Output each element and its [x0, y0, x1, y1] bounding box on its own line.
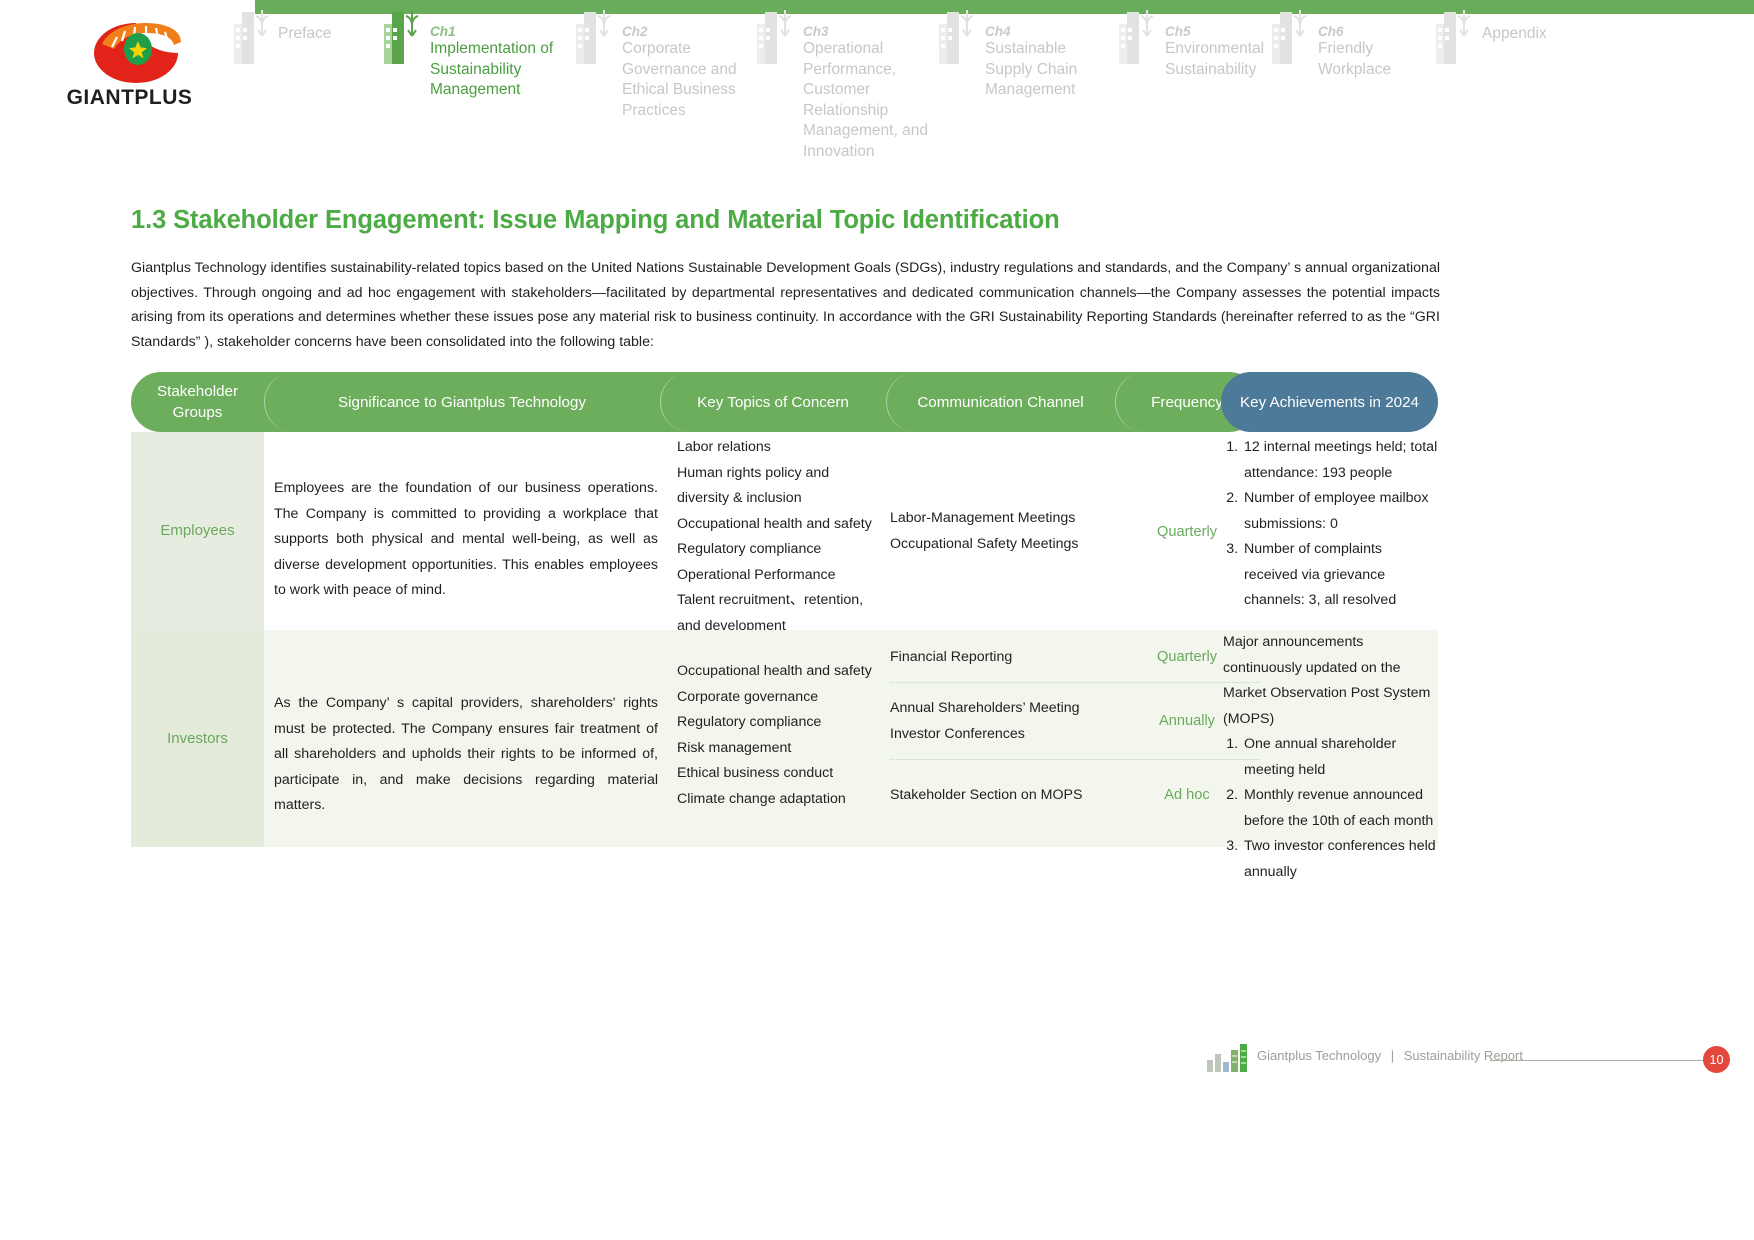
significance-cell: Employees are the foundation of our busi…	[274, 476, 658, 604]
stakeholder-group-cell: Investors	[131, 630, 264, 847]
top-navigation: GIANTPLUS Preface Ch1 Implementation of …	[0, 0, 1754, 150]
table-header-stakeholder-groups: Stakeholder Groups	[131, 372, 264, 432]
brand-logo-text: GIANTPLUS	[42, 86, 217, 110]
header-label: Significance to Giantplus Technology	[338, 392, 586, 413]
topic-item: Occupational health and safety	[677, 659, 873, 685]
table-header-significance: Significance to Giantplus Technology	[264, 372, 660, 432]
topic-item: Corporate governance	[677, 685, 873, 711]
nav-building-icon-active	[382, 6, 428, 68]
key-achievements-cell: Major announcements continuously updated…	[1221, 630, 1438, 885]
table-header-communication-channel: Communication Channel	[886, 372, 1115, 432]
header-divider	[264, 372, 295, 432]
header-divider	[1115, 372, 1146, 432]
topnav-green-bar	[255, 0, 1754, 14]
nav-item-ch3[interactable]: Ch3 Operational Performance, Customer Re…	[803, 24, 928, 162]
significance-cell: As the Company’ s capital providers, sha…	[274, 691, 658, 819]
nav-building-icon	[1270, 6, 1316, 68]
key-topics-cell: Labor relations Human rights policy and …	[677, 435, 873, 639]
nav-item-appendix[interactable]: Appendix	[1482, 24, 1587, 45]
nav-building-icon	[232, 6, 278, 68]
table-header-key-achievements: Key Achievements in 2024	[1221, 372, 1438, 432]
header-divider	[660, 372, 691, 432]
nav-item-label: Implementation of Sustainability Managem…	[430, 39, 570, 101]
achievements-intro: Major announcements continuously updated…	[1221, 630, 1438, 732]
topic-item: Ethical business conduct	[677, 761, 873, 787]
achievement-item: Number of employee mailbox submissions: …	[1242, 486, 1438, 537]
stakeholder-group-cell: Employees	[131, 432, 264, 630]
header-label: Key Achievements in 2024	[1240, 392, 1419, 413]
nav-item-label: Operational Performance, Customer Relati…	[803, 39, 928, 162]
giantplus-eye-logo-icon	[88, 22, 184, 84]
topic-item: Regulatory compliance	[677, 537, 873, 563]
intro-paragraph: Giantplus Technology identifies sustaina…	[131, 256, 1440, 354]
communication-channel-cell: Financial Reporting	[890, 645, 1110, 671]
topic-item: Human rights policy and diversity & incl…	[677, 461, 873, 512]
footer-company: Giantplus Technology	[1257, 1048, 1381, 1063]
achievement-item: 12 internal meetings held; total attenda…	[1242, 435, 1438, 486]
footer-text: Giantplus Technology | Sustainability Re…	[1257, 1048, 1523, 1063]
nav-item-ch6[interactable]: Ch6 Friendly Workplace	[1318, 24, 1423, 80]
key-topics-cell: Occupational health and safety Corporate…	[677, 659, 873, 812]
brand-logo[interactable]: GIANTPLUS	[42, 22, 217, 122]
key-achievements-cell: 12 internal meetings held; total attenda…	[1221, 435, 1438, 614]
nav-item-ch5[interactable]: Ch5 Environmental Sustainability	[1165, 24, 1285, 80]
header-divider	[886, 372, 917, 432]
achievements-list: 12 internal meetings held; total attenda…	[1221, 435, 1438, 614]
nav-item-ch2[interactable]: Ch2 Corporate Governance and Ethical Bus…	[622, 24, 747, 121]
stakeholder-engagement-table: Stakeholder Groups Significance to Giant…	[131, 372, 1438, 847]
nav-chapter-number: Ch2	[622, 24, 747, 39]
header-label: Frequency	[1151, 392, 1223, 413]
nav-building-icon	[1117, 6, 1163, 68]
page-number-badge: 10	[1703, 1046, 1730, 1073]
header-label: Communication Channel	[917, 392, 1083, 413]
nav-building-icon	[937, 6, 983, 68]
page-footer: Giantplus Technology | Sustainability Re…	[1205, 1040, 1745, 1076]
achievement-item: Number of complaints received via grieva…	[1242, 537, 1438, 614]
footer-rule	[1490, 1060, 1705, 1061]
bar-chart-icon	[1205, 1042, 1253, 1077]
communication-channel-cell: Annual Shareholders’ Meeting Investor Co…	[890, 696, 1110, 747]
nav-building-icon	[1434, 6, 1480, 68]
nav-chapter-number: Ch5	[1165, 24, 1285, 39]
achievement-item: One annual shareholder meeting held	[1242, 732, 1438, 783]
header-label: Stakeholder Groups	[131, 381, 264, 423]
nav-chapter-number: Ch1	[430, 24, 570, 39]
nav-item-label: Appendix	[1482, 24, 1587, 45]
nav-item-label: Sustainable Supply Chain Management	[985, 39, 1105, 101]
communication-channel-cell: Labor-Management Meetings Occupational S…	[890, 506, 1110, 557]
table-row-employees: Employees Employees are the foundation o…	[131, 432, 1438, 630]
achievement-item: Two investor conferences held annually	[1242, 834, 1438, 885]
nav-item-label: Environmental Sustainability	[1165, 39, 1285, 80]
page-title: 1.3 Stakeholder Engagement: Issue Mappin…	[131, 206, 1060, 235]
nav-item-ch4[interactable]: Ch4 Sustainable Supply Chain Management	[985, 24, 1105, 101]
nav-item-preface[interactable]: Preface	[278, 24, 383, 45]
topic-item: Operational Performance	[677, 563, 873, 589]
achievement-item: Monthly revenue announced before the 10t…	[1242, 783, 1438, 834]
table-header-key-topics: Key Topics of Concern	[660, 372, 886, 432]
cell-divider	[890, 759, 1259, 760]
topic-item: Labor relations	[677, 435, 873, 461]
nav-chapter-number: Ch6	[1318, 24, 1423, 39]
nav-item-label: Corporate Governance and Ethical Busines…	[622, 39, 747, 121]
topic-item: Climate change adaptation	[677, 787, 873, 813]
table-header-row: Stakeholder Groups Significance to Giant…	[131, 372, 1438, 432]
stakeholder-group-label: Investors	[167, 726, 228, 752]
nav-item-label: Preface	[278, 24, 383, 45]
cell-divider	[890, 682, 1259, 683]
header-label: Key Topics of Concern	[697, 392, 849, 413]
achievements-list: One annual shareholder meeting held Mont…	[1221, 732, 1438, 885]
communication-channel-cell: Stakeholder Section on MOPS	[890, 783, 1110, 809]
stakeholder-group-label: Employees	[160, 518, 234, 544]
nav-chapter-number: Ch4	[985, 24, 1105, 39]
topic-item: Regulatory compliance	[677, 710, 873, 736]
nav-item-label: Friendly Workplace	[1318, 39, 1423, 80]
nav-building-icon	[574, 6, 620, 68]
nav-item-ch1[interactable]: Ch1 Implementation of Sustainability Man…	[430, 24, 570, 101]
table-row-investors: Investors As the Company’ s capital prov…	[131, 630, 1438, 847]
footer-separator: |	[1391, 1048, 1394, 1063]
topic-item: Occupational health and safety	[677, 512, 873, 538]
nav-chapter-number: Ch3	[803, 24, 928, 39]
topic-item: Risk management	[677, 736, 873, 762]
nav-building-icon	[755, 6, 801, 68]
